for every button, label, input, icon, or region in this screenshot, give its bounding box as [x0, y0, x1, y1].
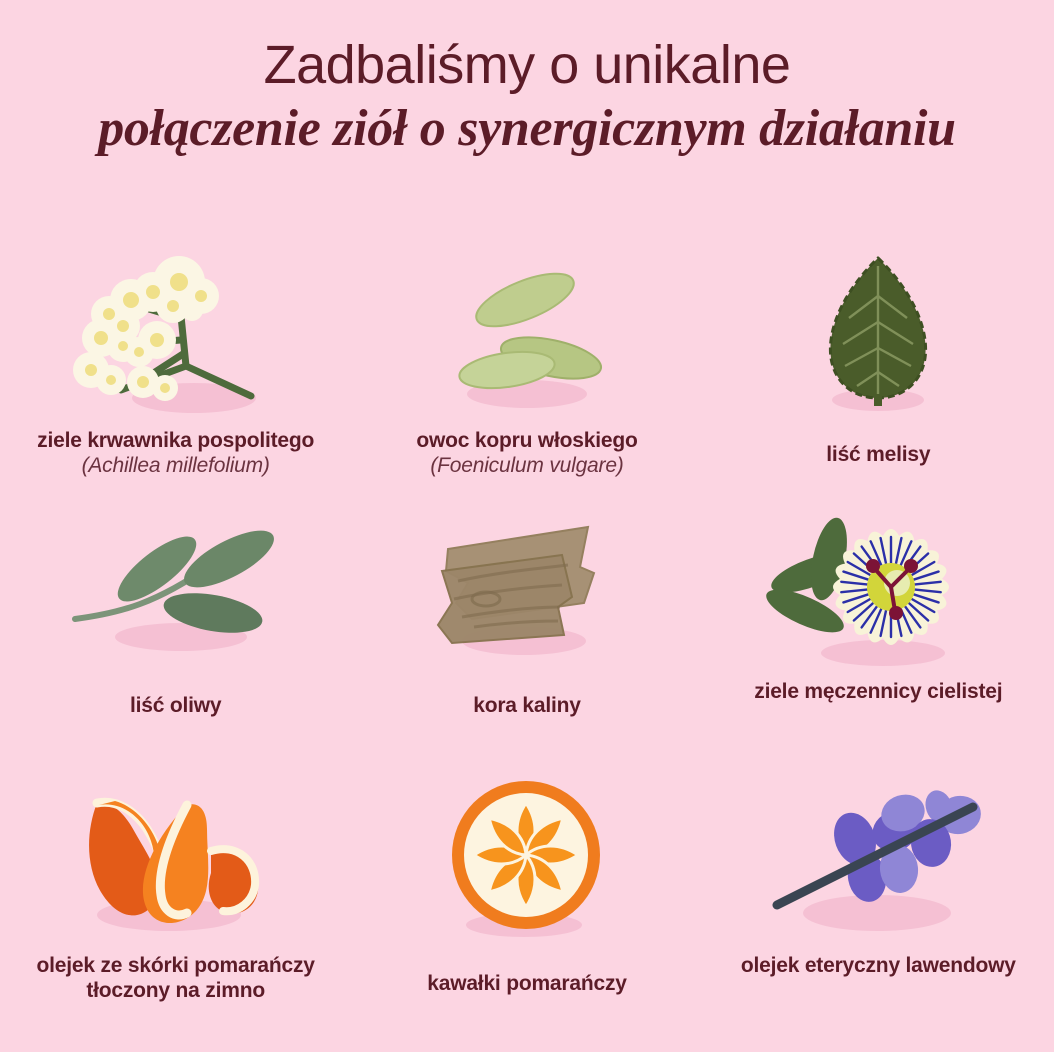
ingredient-name: olejek eteryczny lawendowy: [741, 953, 1016, 978]
ingredient-card-viburnum: kora kaliny: [351, 515, 702, 782]
ingredient-card-orange-peel: olejek ze skórki pomarańczy tłoczony na …: [0, 781, 351, 1048]
ingredient-name: kawałki pomarańczy: [427, 971, 627, 996]
ingredient-name: kora kaliny: [473, 693, 581, 718]
passionflower-icon: [763, 515, 993, 675]
ingredient-grid: ziele krwawnika pospolitego (Achillea mi…: [0, 248, 1054, 1048]
viburnum-bark-icon: [412, 515, 642, 675]
ingredient-card-melissa: liść melisy: [703, 248, 1054, 515]
ingredient-name: owoc kopru włoskiego: [416, 428, 637, 453]
page-title: Zadbaliśmy o unikalne połączenie ziół o …: [0, 34, 1054, 158]
ingredient-card-olive: liść oliwy: [0, 515, 351, 782]
title-line-1: Zadbaliśmy o unikalne: [0, 34, 1054, 96]
fennel-seeds-icon: [412, 248, 642, 424]
ingredient-card-lavender: olejek eteryczny lawendowy: [703, 781, 1054, 1048]
orange-slice-icon: [412, 781, 642, 949]
ingredient-name: olejek ze skórki pomarańczy tłoczony na …: [26, 953, 326, 1003]
ingredient-name: ziele krwawnika pospolitego: [37, 428, 314, 453]
ingredient-name: liść oliwy: [130, 693, 221, 718]
infographic-page: Zadbaliśmy o unikalne połączenie ziół o …: [0, 0, 1054, 1052]
title-line-2: połączenie ziół o synergicznym działaniu: [0, 100, 1054, 158]
melissa-leaf-icon: [763, 248, 993, 424]
olive-branch-icon: [61, 515, 291, 675]
ingredient-card-passionflower: ziele męczennicy cielistej: [703, 515, 1054, 782]
yarrow-flower-icon: [61, 248, 291, 424]
ingredient-card-yarrow: ziele krwawnika pospolitego (Achillea mi…: [0, 248, 351, 515]
ingredient-name: liść melisy: [826, 442, 930, 467]
ingredient-latin-name: (Achillea millefolium): [82, 453, 270, 478]
ingredient-card-fennel: owoc kopru włoskiego (Foeniculum vulgare…: [351, 248, 702, 515]
ingredient-latin-name: (Foeniculum vulgare): [430, 453, 623, 478]
orange-peel-spiral-icon: [61, 781, 291, 949]
lavender-sprig-icon: [763, 781, 993, 949]
ingredient-card-orange-slice: kawałki pomarańczy: [351, 781, 702, 1048]
